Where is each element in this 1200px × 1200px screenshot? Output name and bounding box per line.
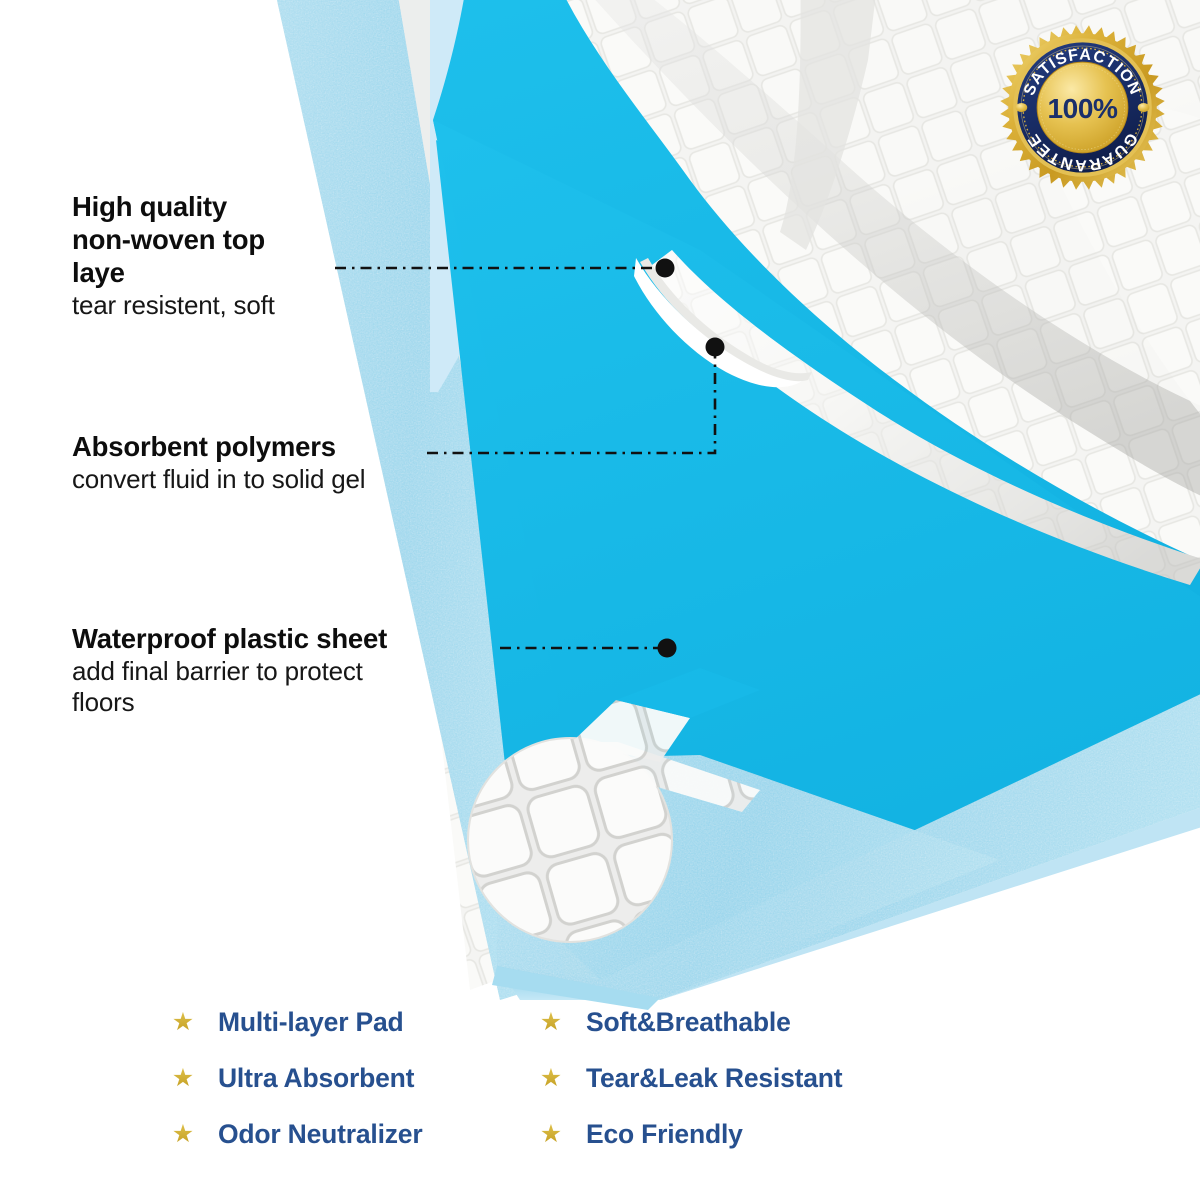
feature-label: Soft&Breathable [586,1007,791,1038]
satisfaction-guarantee-badge: SATISFACTION GUARANTEE 100% [1000,25,1165,190]
feature-list: ★ Multi-layer Pad ★ Ultra Absorbent ★ Od… [0,1000,1200,1175]
feature-item: ★ Eco Friendly [538,1112,1040,1156]
feature-column-left: ★ Multi-layer Pad ★ Ultra Absorbent ★ Od… [0,1000,520,1175]
star-icon: ★ [538,1122,564,1147]
feature-item: ★ Ultra Absorbent [170,1056,520,1100]
feature-item: ★ Odor Neutralizer [170,1112,520,1156]
feature-label: Odor Neutralizer [218,1119,422,1150]
star-icon: ★ [170,1010,196,1035]
badge-left-nub [1016,103,1028,112]
feature-label: Eco Friendly [586,1119,743,1150]
feature-label: Multi-layer Pad [218,1007,404,1038]
callout-subtitle: tear resistent, soft [72,290,372,321]
badge-center-text: 100% [1047,93,1118,124]
feature-item: ★ Soft&Breathable [538,1000,1040,1044]
callout-title: High quality non-woven top laye [72,190,372,289]
callout-subtitle: convert fluid in to solid gel [72,464,502,495]
star-icon: ★ [170,1066,196,1091]
callout-title: Absorbent polymers [72,430,502,463]
star-icon: ★ [538,1066,564,1091]
feature-column-right: ★ Soft&Breathable ★ Tear&Leak Resistant … [520,1000,1040,1175]
callout-title: Waterproof plastic sheet [72,622,502,655]
feature-item: ★ Tear&Leak Resistant [538,1056,1040,1100]
feature-item: ★ Multi-layer Pad [170,1000,520,1044]
callout-top-layer: High quality non-woven top laye tear res… [72,190,372,321]
infographic-canvas: High quality non-woven top laye tear res… [0,0,1200,1200]
feature-label: Tear&Leak Resistant [586,1063,842,1094]
star-icon: ★ [170,1122,196,1147]
star-icon: ★ [538,1010,564,1035]
feature-label: Ultra Absorbent [218,1063,414,1094]
callout-subtitle: add final barrier to protect floors [72,656,502,718]
badge-right-nub [1138,103,1150,112]
callout-waterproof-sheet: Waterproof plastic sheet add final barri… [72,622,502,718]
callout-absorbent-polymers: Absorbent polymers convert fluid in to s… [72,430,502,495]
